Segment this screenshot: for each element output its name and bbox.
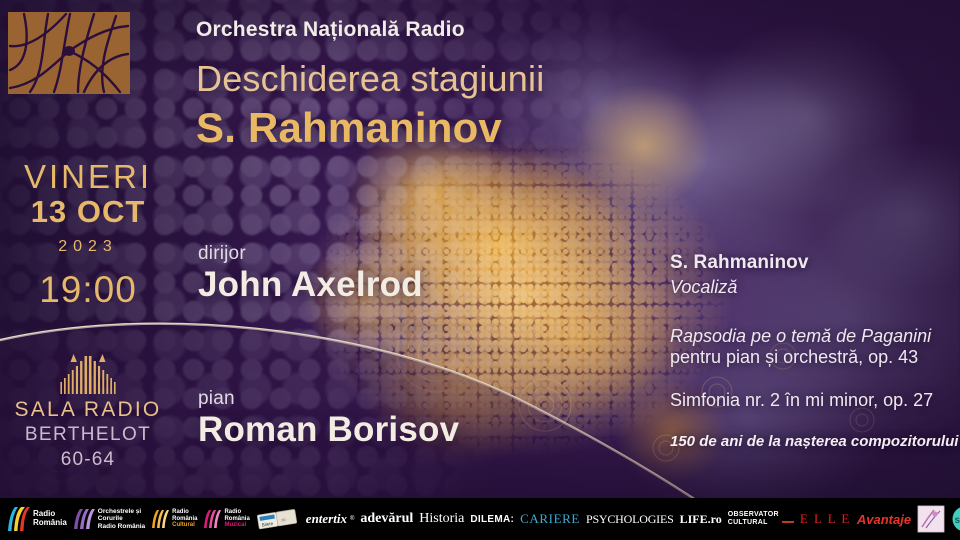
sponsor-label: Radio România Cultural	[172, 509, 197, 528]
pianist-name: Roman Borisov	[198, 410, 459, 450]
sponsor-radio-romania[interactable]: Radio România	[4, 504, 69, 534]
season-title: Deschiderea stagiunii	[196, 58, 544, 100]
program-work-3: Simfonia nr. 2 în mi minor, op. 27	[670, 390, 960, 411]
conductor-role: dirijor	[198, 243, 423, 265]
sponsor-spot[interactable]: spot	[949, 504, 960, 534]
program-composer: S. Rahmaninov	[670, 252, 960, 274]
sponsor-line: CULTURAL	[728, 519, 779, 527]
venue-number: 60-64	[0, 448, 176, 472]
sponsor-wordmark: Avantaje	[857, 512, 911, 527]
sponsor-wordmark: Historia	[419, 511, 464, 527]
observator-accent-bar	[782, 521, 794, 523]
weekday-label: VINERI	[0, 160, 176, 193]
sponsor-psychologies[interactable]: PSYCHOLOGIES	[584, 504, 676, 534]
sponsor-elle[interactable]: E L L E	[798, 504, 853, 534]
orchestre-coruri-icon	[73, 508, 95, 530]
sponsor-arte[interactable]	[915, 504, 947, 534]
sponsor-wordmark: entertix	[306, 511, 347, 527]
sponsor-label: OBSERVATOR CULTURAL	[728, 511, 779, 526]
sponsor-avantaje[interactable]: Avantaje	[855, 504, 913, 534]
radio-romania-icon	[6, 506, 30, 532]
year-label: 2023	[0, 232, 176, 262]
program-work-1: Vocaliză	[670, 277, 960, 298]
sponsor-radio-muzical[interactable]: Radio România Muzical	[201, 504, 251, 534]
sponsor-entertix[interactable]: entertix ®	[304, 504, 357, 534]
conductor-block: dirijor John Axelrod	[198, 243, 423, 305]
sponsor-bilete[interactable]: Bilete .ro	[254, 504, 302, 534]
pianist-block: pian Roman Borisov	[198, 388, 459, 450]
sponsor-wordmark: LIFE.ro	[680, 512, 722, 527]
pianist-role: pian	[198, 388, 459, 410]
sponsor-adevarul[interactable]: adevărul	[358, 504, 415, 534]
sponsor-orchestre-coruri[interactable]: Orchestrele și Corurile Radio România	[71, 504, 147, 534]
sponsor-label: Radio România Muzical	[224, 509, 249, 528]
sponsor-radio-cultural[interactable]: Radio România Cultural	[149, 504, 199, 534]
concert-poster: VINERI 13 OCT 2023 19:00	[0, 0, 960, 540]
sponsor-wordmark: adevărul	[360, 511, 413, 527]
radio-romania-abstract-logo	[8, 12, 130, 94]
anniversary-note: 150 de ani de la nașterea compozitorului	[670, 433, 960, 450]
conductor-name: John Axelrod	[198, 265, 423, 305]
sponsor-line: România	[33, 519, 67, 528]
arte-icon	[917, 505, 945, 533]
sala-radio-emblem	[53, 352, 123, 394]
venue-name: SALA RADIO	[0, 397, 176, 423]
sponsor-line: Cultural	[172, 522, 197, 528]
svg-text:spot: spot	[955, 515, 960, 526]
sponsor-line: Radio România	[98, 523, 145, 530]
sponsor-wordmark: E L L E	[800, 511, 851, 527]
sponsor-label: Radio România	[33, 510, 67, 527]
program-block: S. Rahmaninov Vocaliză Rapsodia pe o tem…	[670, 252, 960, 450]
sponsor-cariere[interactable]: CARIERE	[518, 504, 582, 534]
orchestra-name: Orchestra Națională Radio	[196, 18, 465, 42]
sponsor-observator-cultural[interactable]: OBSERVATOR CULTURAL	[726, 504, 796, 534]
sponsor-wordmark: PSYCHOLOGIES	[586, 512, 674, 527]
sponsor-historia[interactable]: Historia	[417, 504, 466, 534]
venue-street: BERTHELOT	[0, 423, 176, 448]
sponsor-line: Corurile	[98, 515, 145, 522]
bilete-ticket-icon: Bilete .ro	[256, 508, 300, 530]
time-label: 19:00	[0, 262, 176, 318]
day-month-label: 13 OCT	[0, 193, 176, 232]
sponsor-wordmark: CARIERE	[520, 511, 580, 527]
sponsor-line: Muzical	[224, 522, 249, 528]
spot-icon: spot	[951, 505, 960, 533]
radio-cultural-icon	[151, 509, 169, 529]
program-work-2: Rapsodia pe o temă de Paganini	[670, 326, 960, 347]
sponsor-life-ro[interactable]: LIFE.ro	[678, 504, 724, 534]
sponsor-line: Orchestrele și	[98, 508, 145, 515]
radio-muzical-icon	[203, 509, 221, 529]
sponsor-bar: Radio România Orchestrele și Corurile Ra…	[0, 498, 960, 540]
venue-block: SALA RADIO BERTHELOT 60-64	[0, 352, 176, 472]
date-block: VINERI 13 OCT 2023 19:00	[0, 160, 176, 318]
sponsor-wordmark: DILEMA:	[470, 514, 514, 525]
sponsor-dilema[interactable]: DILEMA:	[468, 504, 516, 534]
sponsor-line: OBSERVATOR	[728, 511, 779, 519]
sponsor-label: Orchestrele și Corurile Radio România	[98, 508, 145, 529]
program-work-2-sub: pentru pian și orchestră, op. 43	[670, 347, 960, 368]
composer-title: S. Rahmaninov	[196, 104, 502, 152]
